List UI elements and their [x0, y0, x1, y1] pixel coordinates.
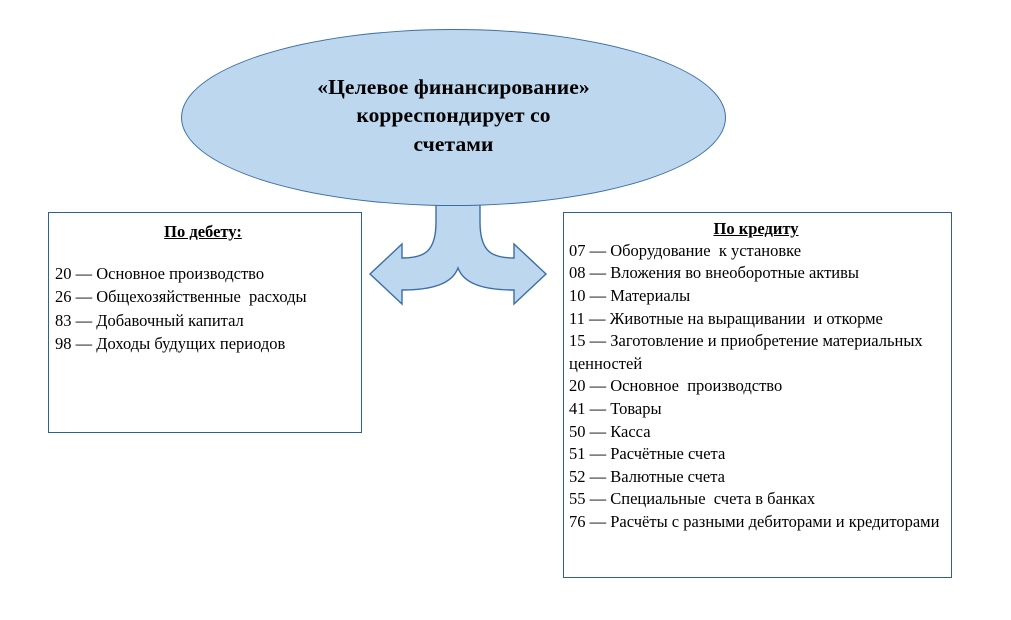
- list-item: 07 — Оборудование к установке: [569, 240, 943, 263]
- ellipse-line-3: счетами: [413, 132, 493, 156]
- list-item: 98 — Доходы будущих периодов: [55, 332, 351, 355]
- list-item: 76 — Расчёты с разными дебиторами и кред…: [569, 511, 943, 534]
- central-ellipse-label: «Целевое финансирование» корреспондирует…: [204, 73, 704, 159]
- list-item: 15 — Заготовление и приобретение материа…: [569, 330, 943, 375]
- split-arrow-icon: [368, 196, 548, 324]
- credit-account-list: 07 — Оборудование к установке 08 — Вложе…: [569, 240, 943, 534]
- list-item: 51 — Расчётные счета: [569, 443, 943, 466]
- ellipse-line-2: корреспондирует со: [356, 103, 550, 127]
- diagram-canvas: «Целевое финансирование» корреспондирует…: [0, 0, 1011, 620]
- list-item: 83 — Добавочный капитал: [55, 309, 351, 332]
- ellipse-line-1: «Целевое финансирование»: [317, 75, 589, 99]
- list-item: 10 — Материалы: [569, 285, 943, 308]
- debit-box-title: По дебету:: [55, 222, 351, 242]
- debit-account-list: 20 — Основное производство 26 — Общехозя…: [55, 262, 351, 356]
- list-item: 52 — Валютные счета: [569, 466, 943, 489]
- debit-accounts-box: По дебету: 20 — Основное производство 26…: [48, 212, 362, 433]
- list-item: 20 — Основное производство: [569, 375, 943, 398]
- credit-accounts-box: По кредиту 07 — Оборудование к установке…: [563, 212, 952, 578]
- credit-box-title: По кредиту: [569, 219, 943, 239]
- list-item: 26 — Общехозяйственные расходы: [55, 285, 351, 308]
- central-ellipse-shape: «Целевое финансирование» корреспондирует…: [181, 29, 726, 206]
- list-item: 41 — Товары: [569, 398, 943, 421]
- list-item: 11 — Животные на выращивании и откорме: [569, 308, 943, 331]
- list-item: 08 — Вложения во внеоборотные активы: [569, 262, 943, 285]
- list-item: 50 — Касса: [569, 421, 943, 444]
- list-item: 55 — Специальные счета в банках: [569, 488, 943, 511]
- list-item: 20 — Основное производство: [55, 262, 351, 285]
